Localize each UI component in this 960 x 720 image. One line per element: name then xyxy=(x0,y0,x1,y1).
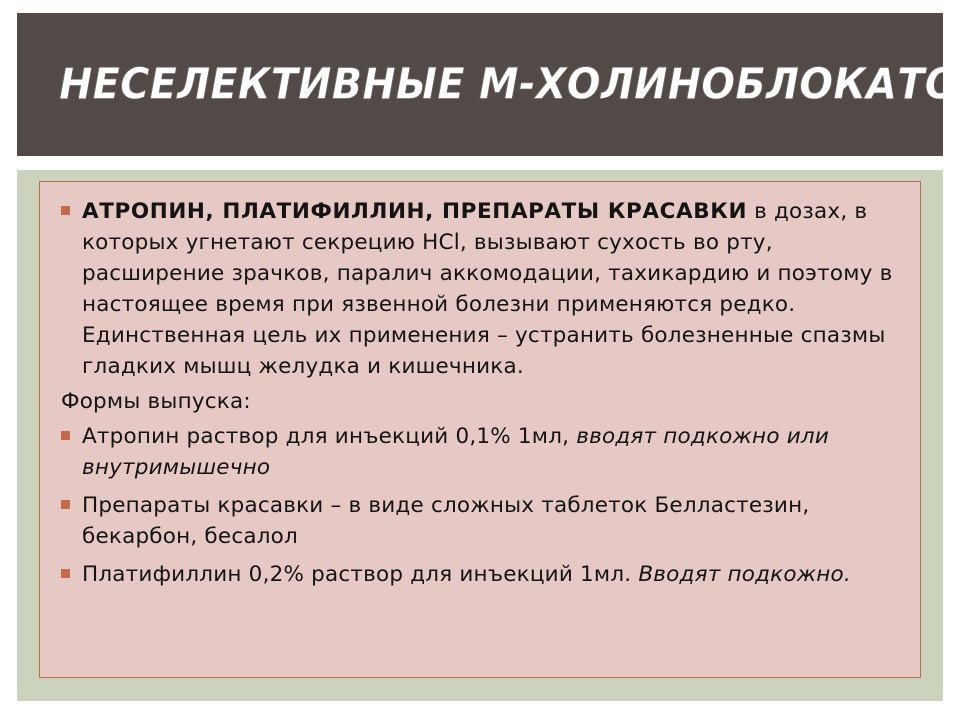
list-item: Атропин раствор для инъекций 0,1% 1мл, в… xyxy=(52,421,906,483)
forms-heading-label: Формы выпуска: xyxy=(61,389,251,414)
list-item: Препараты красавки – в виде сложных табл… xyxy=(52,490,906,552)
content-box: АТРОПИН, ПЛАТИФИЛЛИН, ПРЕПАРАТЫ КРАСАВКИ… xyxy=(39,181,921,678)
item-2-italic: Вводят подкожно. xyxy=(638,562,851,587)
bullet-square-icon xyxy=(61,500,70,509)
item-1-normal: Препараты красавки – в виде сложных табл… xyxy=(82,493,809,549)
paragraph-1-body: в дозах, в которых угнетают секрецию HCl… xyxy=(82,199,892,379)
bullet-square-icon xyxy=(61,569,70,578)
bullet-square-icon xyxy=(61,431,70,440)
paragraph-1-caps: АТРОПИН, ПЛАТИФИЛЛИН, ПРЕПАРАТЫ КРАСАВКИ xyxy=(82,199,747,224)
item-2-normal: Платифиллин 0,2% раствор для инъекций 1м… xyxy=(82,562,638,587)
spacer xyxy=(52,552,906,559)
title-banner: НЕСЕЛЕКТИВНЫЕ М-ХОЛИНОБЛОКАТОРЫ xyxy=(17,13,943,156)
body-list: АТРОПИН, ПЛАТИФИЛЛИН, ПРЕПАРАТЫ КРАСАВКИ… xyxy=(52,196,906,590)
slide-canvas: НЕСЕЛЕКТИВНЫЕ М-ХОЛИНОБЛОКАТОРЫ АТРОПИН,… xyxy=(0,0,960,720)
list-item: АТРОПИН, ПЛАТИФИЛЛИН, ПРЕПАРАТЫ КРАСАВКИ… xyxy=(52,196,906,382)
item-0-normal: Атропин раствор для инъекций 0,1% 1мл, xyxy=(82,424,576,449)
slide-title-text: НЕСЕЛЕКТИВНЫЕ М-ХОЛИНОБЛОКАТОРЫ xyxy=(59,62,943,107)
forms-heading: Формы выпуска: xyxy=(52,386,906,417)
bullet-square-icon xyxy=(61,206,70,215)
slide-title: НЕСЕЛЕКТИВНЫЕ М-ХОЛИНОБЛОКАТОРЫ xyxy=(17,62,943,107)
spacer xyxy=(52,483,906,490)
list-item: Платифиллин 0,2% раствор для инъекций 1м… xyxy=(52,559,906,590)
